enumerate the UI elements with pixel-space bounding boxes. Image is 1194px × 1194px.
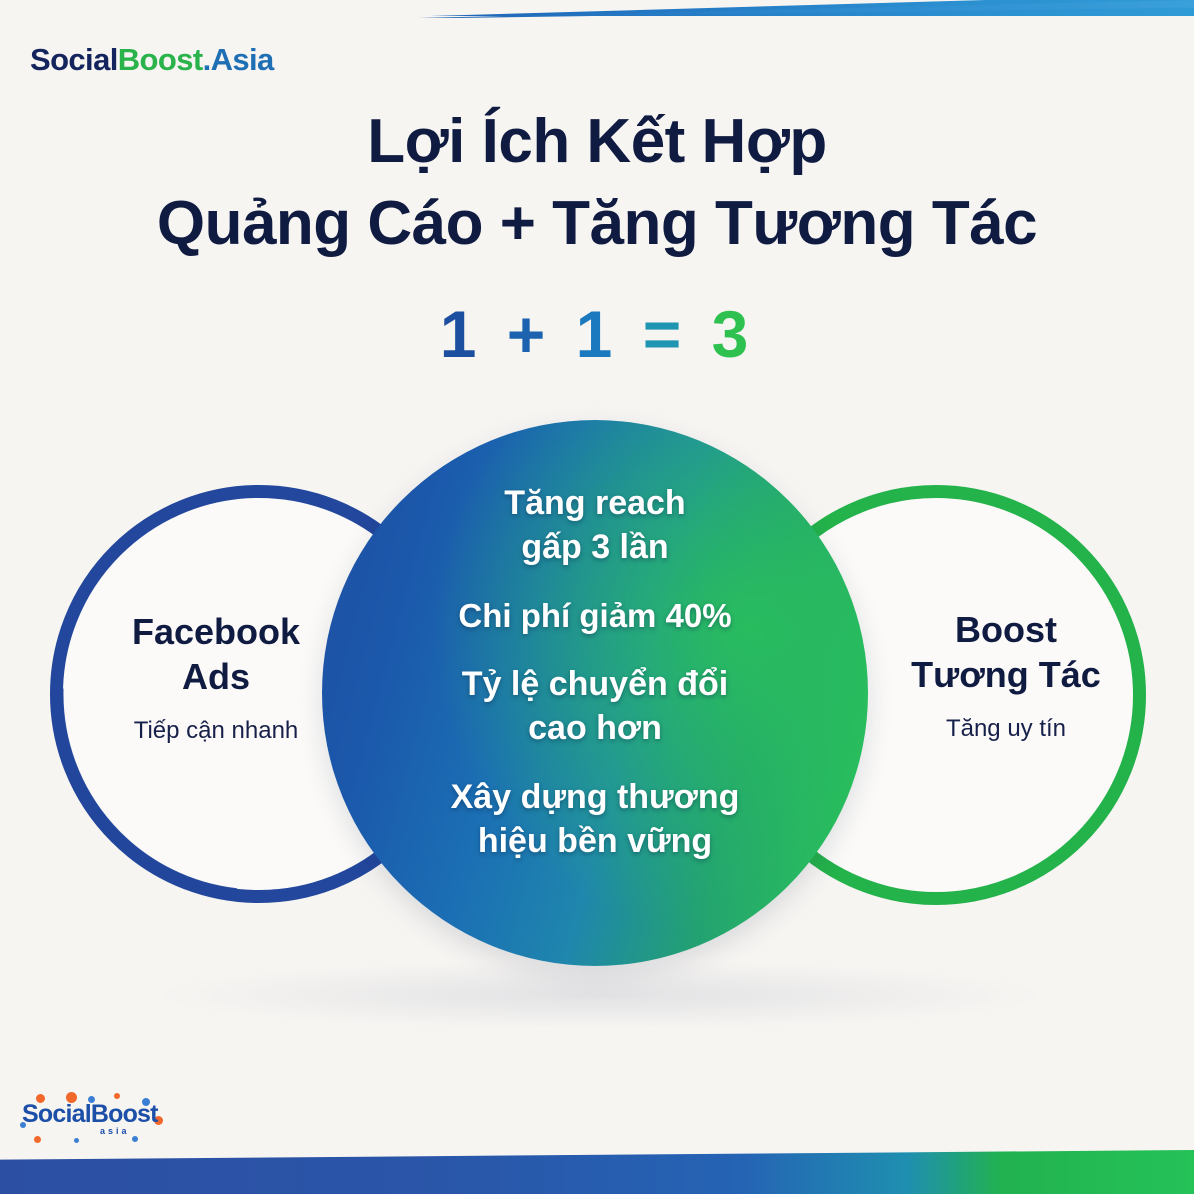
confetti-dot [114,1093,120,1099]
benefit-item: Tỷ lệ chuyển đổi cao hơn [340,663,850,750]
infographic-canvas: SocialBoost.Asia Lợi Ích Kết Hợp Quảng C… [0,0,1194,1194]
bottom-accent-bar-shape [0,1150,1194,1194]
benefit-line-1: Xây dựng thương [340,776,850,820]
confetti-dot [34,1136,41,1143]
benefit-item: Xây dựng thương hiệu bền vững [340,776,850,863]
venn-left-title-line-1: Facebook [76,610,356,655]
venn-left-title: Facebook Ads [76,610,356,699]
bottom-accent-bar [0,1150,1194,1194]
venn-right-title: Boost Tương Tác [866,608,1146,697]
venn-left-label: Facebook Ads Tiếp cận nhanh [76,610,356,746]
benefit-line-2: gấp 3 lần [340,526,850,570]
benefit-line-2: hiệu bền vững [340,820,850,864]
venn-right-subtitle: Tăng uy tín [866,713,1146,744]
benefit-item: Chi phí giảm 40% [340,595,850,637]
venn-center-benefits: Tăng reach gấp 3 lần Chi phí giảm 40% Tỷ… [340,482,850,863]
venn-diagram: Facebook Ads Tiếp cận nhanh Boost Tương … [0,0,1194,1194]
venn-left-subtitle: Tiếp cận nhanh [76,715,356,746]
venn-right-title-line-1: Boost [866,608,1146,653]
venn-right-label: Boost Tương Tác Tăng uy tín [866,608,1146,744]
benefit-line-1: Tăng reach [340,482,850,526]
footer-logo-subtext: asia [100,1126,130,1136]
benefit-item: Tăng reach gấp 3 lần [340,482,850,569]
venn-ground-shadow [150,960,1050,1030]
benefit-line-2: cao hơn [340,707,850,751]
venn-left-title-line-2: Ads [76,655,356,700]
footer-logo: SocialBoost asia [14,1092,184,1150]
confetti-dot [74,1138,79,1143]
footer-logo-text: SocialBoost [22,1100,158,1129]
confetti-dot [132,1136,138,1142]
venn-right-title-line-2: Tương Tác [866,653,1146,698]
benefit-line-1: Chi phí giảm 40% [340,595,850,637]
benefit-line-1: Tỷ lệ chuyển đổi [340,663,850,707]
